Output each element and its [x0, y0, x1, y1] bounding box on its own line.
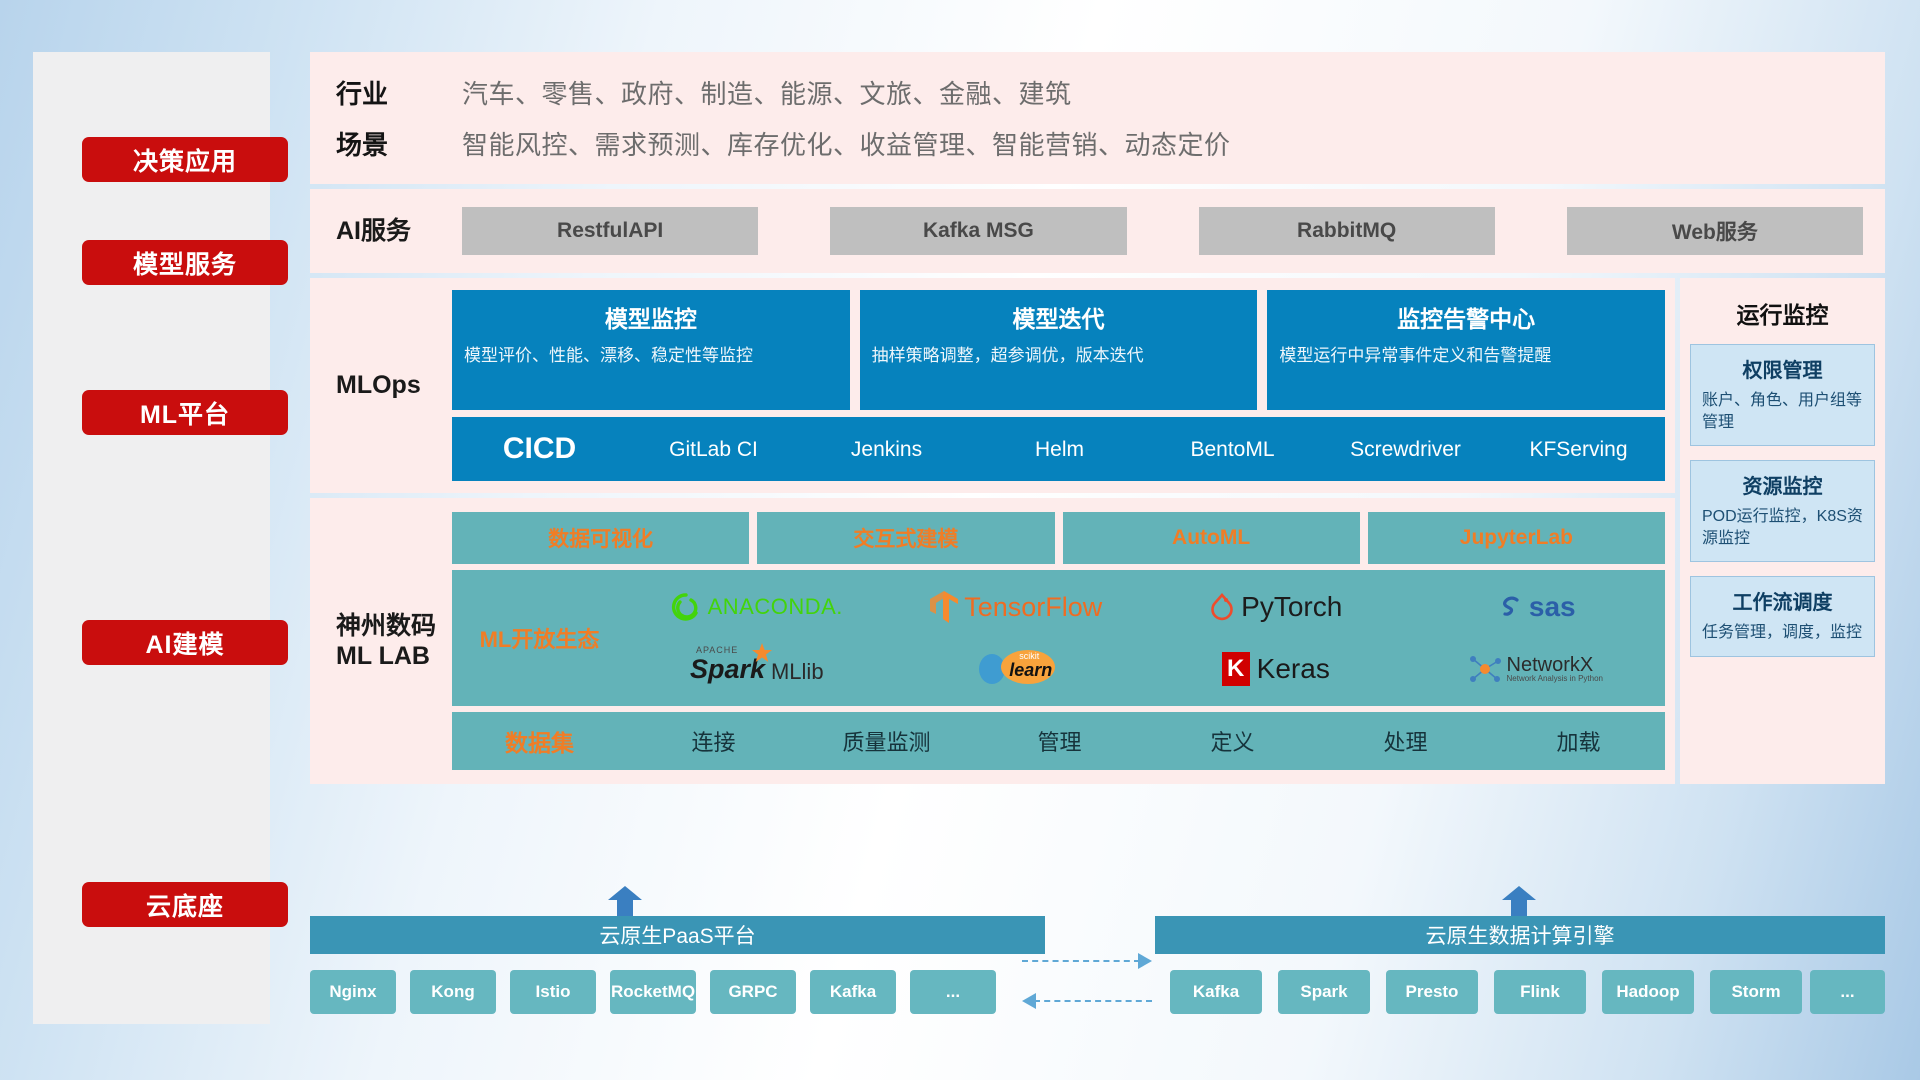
industry-label: 行业: [336, 74, 462, 111]
dashed-arrow-left-icon: [1022, 993, 1036, 1009]
networkx-logo-item: NetworkX Network Analysis in Python: [1468, 653, 1604, 685]
runtime-monitoring-title: 运行监控: [1690, 290, 1875, 344]
mlops-card-model-iteration[interactable]: 模型迭代 抽样策略调整，超参调优，版本迭代: [860, 290, 1258, 410]
cloud-foundation-zone: 云原生PaaS平台 云原生数据计算引擎 Nginx Kong Istio Roc…: [310, 886, 1885, 1024]
dataset-item-define[interactable]: 定义: [1146, 725, 1319, 757]
lab-tab-interactive-modeling[interactable]: 交互式建模: [757, 512, 1054, 564]
tag-flink[interactable]: Flink: [1494, 970, 1586, 1014]
tag-grpc[interactable]: GRPC: [710, 970, 796, 1014]
dataset-item-process[interactable]: 处理: [1319, 725, 1492, 757]
monitor-card-resource[interactable]: 资源监控 POD运行监控，K8S资源监控: [1690, 460, 1875, 562]
ml-lab-band: 神州数码 ML LAB 数据可视化 交互式建模 AutoML JupyterLa…: [310, 498, 1675, 784]
apache-text: APACHE: [696, 645, 738, 655]
tag-spark[interactable]: Spark: [1278, 970, 1370, 1014]
sas-wordmark: sas: [1529, 591, 1576, 623]
cicd-item-jenkins[interactable]: Jenkins: [800, 439, 973, 460]
mlops-card-alert-center[interactable]: 监控告警中心 模型运行中异常事件定义和告警提醒: [1267, 290, 1665, 410]
pytorch-wordmark: PyTorch: [1241, 591, 1342, 623]
arrow-up-engine-icon: [1502, 886, 1536, 920]
sas-logo-item: sas: [1495, 591, 1576, 623]
ai-chip-kafka-msg[interactable]: Kafka MSG: [830, 207, 1126, 255]
tag-more-right[interactable]: ...: [1810, 970, 1885, 1014]
engine-header[interactable]: 云原生数据计算引擎: [1155, 916, 1885, 954]
learn-wordmark: learn: [1009, 660, 1052, 681]
cicd-item-helm[interactable]: Helm: [973, 439, 1146, 460]
ai-chip-restfulapi[interactable]: RestfulAPI: [462, 207, 758, 255]
tag-more-left[interactable]: ...: [910, 970, 996, 1014]
dashed-line-left: [1034, 1000, 1152, 1002]
mlops-cards: 模型监控 模型评价、性能、漂移、稳定性等监控 模型迭代 抽样策略调整，超参调优，…: [452, 290, 1665, 410]
tensorflow-icon: [930, 591, 958, 623]
cicd-item-kfserving[interactable]: KFServing: [1492, 439, 1665, 460]
tensorflow-wordmark: TensorFlow: [964, 592, 1102, 623]
tag-storm[interactable]: Storm: [1710, 970, 1802, 1014]
stage-chip-model-serving[interactable]: 模型服务: [82, 240, 288, 285]
stage-chip-ai-modeling[interactable]: AI建模: [82, 620, 288, 665]
industry-values: 汽车、零售、政府、制造、能源、文旅、金融、建筑: [462, 74, 1072, 111]
arrow-up-paas-icon: [608, 886, 642, 920]
mllib-wordmark: MLlib: [771, 659, 824, 685]
pytorch-icon: [1209, 592, 1235, 622]
lab-tab-jupyterlab[interactable]: JupyterLab: [1368, 512, 1665, 564]
architecture-diagram: 决策应用 模型服务 ML平台 AI建模 云底座 行业 汽车、零售、政府、制造、能…: [0, 0, 1920, 1080]
networkx-tagline: Network Analysis in Python: [1507, 675, 1604, 683]
dataset-item-manage[interactable]: 管理: [973, 725, 1146, 757]
ai-service-items: RestfulAPI Kafka MSG RabbitMQ Web服务: [462, 207, 1863, 255]
dashed-line-right: [1022, 960, 1140, 962]
scikit-learn-logo-item: scikit learn: [975, 649, 1057, 690]
monitor-card-permission[interactable]: 权限管理 账户、角色、用户组等管理: [1690, 344, 1875, 446]
mlops-card-model-monitoring[interactable]: 模型监控 模型评价、性能、漂移、稳定性等监控: [452, 290, 850, 410]
sas-icon: [1495, 592, 1525, 622]
lab-tabs: 数据可视化 交互式建模 AutoML JupyterLab: [452, 512, 1665, 564]
application-band: 行业 汽车、零售、政府、制造、能源、文旅、金融、建筑 场景 智能风控、需求预测、…: [310, 52, 1885, 184]
paas-header[interactable]: 云原生PaaS平台: [310, 916, 1045, 954]
mlops-label: MLOps: [336, 370, 452, 401]
tag-kafka-left[interactable]: Kafka: [810, 970, 896, 1014]
cicd-item-bentoml[interactable]: BentoML: [1146, 439, 1319, 460]
runtime-monitoring-panel: 运行监控 权限管理 账户、角色、用户组等管理 资源监控 POD运行监控，K8S资…: [1680, 278, 1885, 784]
ai-chip-web-service[interactable]: Web服务: [1567, 207, 1863, 255]
card-desc: 抽样策略调整，超参调优，版本迭代: [872, 344, 1246, 367]
tag-presto[interactable]: Presto: [1386, 970, 1478, 1014]
main-column: 行业 汽车、零售、政府、制造、能源、文旅、金融、建筑 场景 智能风控、需求预测、…: [310, 52, 1885, 784]
lab-tab-automl[interactable]: AutoML: [1063, 512, 1360, 564]
tag-istio[interactable]: Istio: [510, 970, 596, 1014]
card-title: 模型迭代: [872, 300, 1246, 334]
monitor-card-workflow[interactable]: 工作流调度 任务管理，调度，监控: [1690, 576, 1875, 657]
networkx-wordmark: NetworkX: [1507, 655, 1604, 675]
cicd-item-gitlab-ci[interactable]: GitLab CI: [627, 439, 800, 460]
stage-chip-cloud-base[interactable]: 云底座: [82, 882, 288, 927]
dataset-item-connect[interactable]: 连接: [627, 725, 800, 757]
stage-rail: 决策应用 模型服务 ML平台 AI建模 云底座: [33, 52, 270, 1024]
ai-service-label: AI服务: [336, 216, 462, 247]
dataset-item-quality[interactable]: 质量监测: [800, 725, 973, 757]
ai-chip-rabbitmq[interactable]: RabbitMQ: [1199, 207, 1495, 255]
ml-ecosystem-row: ML开放生态 ANACONDA.: [452, 570, 1665, 706]
scenario-values: 智能风控、需求预测、库存优化、收益管理、智能营销、动态定价: [462, 125, 1231, 162]
lab-tab-data-visualization[interactable]: 数据可视化: [452, 512, 749, 564]
scenario-row: 场景 智能风控、需求预测、库存优化、收益管理、智能营销、动态定价: [336, 125, 1885, 162]
cicd-title: CICD: [452, 432, 627, 466]
card-title: 资源监控: [1702, 470, 1863, 499]
tag-rocketmq[interactable]: RocketMQ: [610, 970, 696, 1014]
anaconda-wordmark: ANACONDA.: [708, 594, 843, 620]
card-desc: 任务管理，调度，监控: [1702, 622, 1863, 644]
ml-ecosystem-label: ML开放生态: [452, 622, 627, 654]
card-desc: 账户、角色、用户组等管理: [1702, 390, 1863, 433]
spark-mllib-logo-item: APACHE Spark MLlib: [690, 654, 824, 685]
card-title: 模型监控: [464, 300, 838, 334]
dataset-row: 数据集 连接 质量监测 管理 定义 处理 加载: [452, 712, 1665, 770]
tensorflow-logo-item: TensorFlow: [930, 591, 1102, 623]
tag-hadoop[interactable]: Hadoop: [1602, 970, 1694, 1014]
dashed-arrow-right-icon: [1138, 953, 1152, 969]
cicd-bar: CICD GitLab CI Jenkins Helm BentoML Scre…: [452, 417, 1665, 481]
scenario-label: 场景: [336, 125, 462, 162]
card-title: 监控告警中心: [1279, 300, 1653, 334]
card-desc: POD运行监控，K8S资源监控: [1702, 506, 1863, 549]
dataset-item-load[interactable]: 加载: [1492, 725, 1665, 757]
keras-wordmark: Keras: [1257, 653, 1330, 685]
card-title: 权限管理: [1702, 354, 1863, 383]
card-desc: 模型评价、性能、漂移、稳定性等监控: [464, 344, 838, 367]
tag-kafka-right[interactable]: Kafka: [1170, 970, 1262, 1014]
mlops-band: MLOps 模型监控 模型评价、性能、漂移、稳定性等监控 模型迭代 抽样策略调整…: [310, 278, 1675, 493]
card-desc: 模型运行中异常事件定义和告警提醒: [1279, 344, 1653, 367]
anaconda-icon: [671, 592, 701, 622]
dataset-title: 数据集: [452, 724, 627, 758]
networkx-icon: [1468, 653, 1502, 685]
stage-chip-decision[interactable]: 决策应用: [82, 137, 288, 182]
ai-service-band: AI服务 RestfulAPI Kafka MSG RabbitMQ Web服务: [310, 189, 1885, 273]
industry-row: 行业 汽车、零售、政府、制造、能源、文旅、金融、建筑: [336, 74, 1885, 111]
tag-nginx[interactable]: Nginx: [310, 970, 396, 1014]
ml-lab-label: 神州数码 ML LAB: [336, 611, 452, 672]
tag-kong[interactable]: Kong: [410, 970, 496, 1014]
stage-chip-ml-platform[interactable]: ML平台: [82, 390, 288, 435]
anaconda-logo-item: ANACONDA.: [671, 592, 843, 622]
platform-section: MLOps 模型监控 模型评价、性能、漂移、稳定性等监控 模型迭代 抽样策略调整…: [310, 278, 1885, 784]
pytorch-logo-item: PyTorch: [1209, 591, 1342, 623]
keras-mark-icon: K: [1222, 652, 1250, 686]
spark-star-icon: [751, 642, 773, 664]
cicd-item-screwdriver[interactable]: Screwdriver: [1319, 439, 1492, 460]
keras-logo-item: K Keras: [1222, 652, 1330, 686]
card-title: 工作流调度: [1702, 586, 1863, 615]
